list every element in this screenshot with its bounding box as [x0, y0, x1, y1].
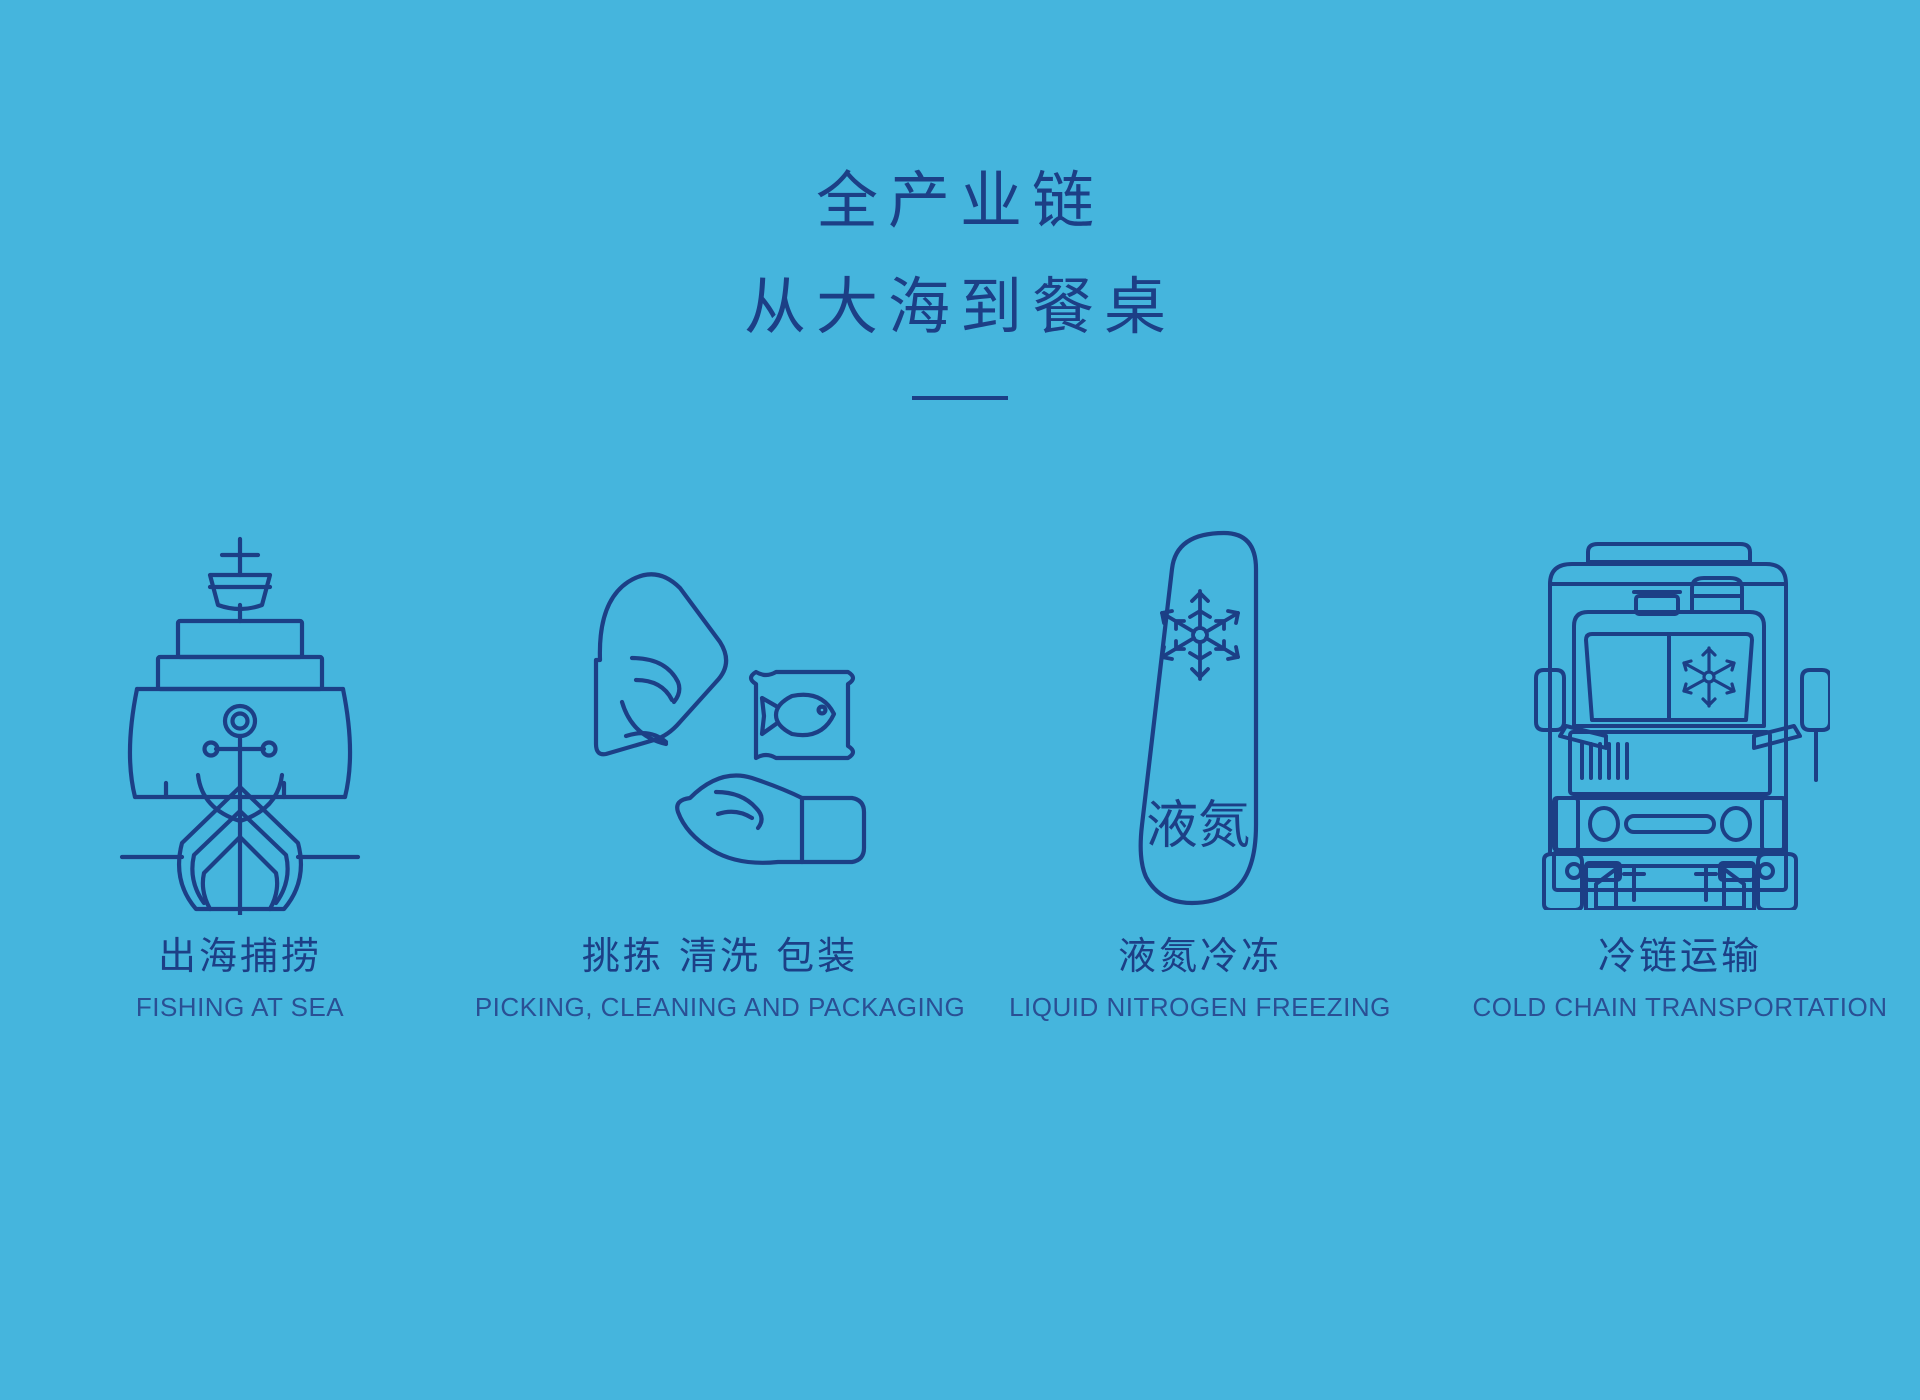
step-liquid-nitrogen-freezing[interactable]: 液氮 液氮冷冻 LIQUID NITROGEN FREEZING — [960, 520, 1440, 1023]
tank-label-text: 液氮 — [1146, 796, 1250, 856]
refrigerated-truck-icon — [1530, 530, 1830, 910]
step-label-cn: 出海捕捞 — [136, 934, 344, 980]
step-labels: 挑拣 清洗 包装 PICKING, CLEANING AND PACKAGING — [475, 934, 965, 1023]
step-label-cn: 冷链运输 — [1472, 934, 1887, 980]
step-label-en: PICKING, CLEANING AND PACKAGING — [475, 992, 965, 1023]
liquid-nitrogen-tank-icon: 液氮 — [1120, 525, 1280, 915]
icon-container — [1530, 520, 1830, 920]
page-header: 全产业链 从大海到餐桌 — [0, 170, 1920, 400]
icon-container: 液氮 — [1120, 520, 1280, 920]
icon-container — [110, 520, 370, 920]
step-label-cn: 液氮冷冻 — [1009, 934, 1391, 980]
hands-sorting-packaging-icon — [570, 550, 870, 890]
page-root: 全产业链 从大海到餐桌 — [0, 0, 1920, 1400]
snowflake-icon — [1684, 648, 1734, 706]
icon-container — [570, 520, 870, 920]
step-label-en: COLD CHAIN TRANSPORTATION — [1472, 992, 1887, 1023]
step-labels: 液氮冷冻 LIQUID NITROGEN FREEZING — [1009, 934, 1391, 1023]
step-label-en: FISHING AT SEA — [136, 992, 344, 1023]
snowflake-icon — [1162, 591, 1238, 679]
page-title-primary: 全产业链 — [0, 170, 1920, 232]
process-steps: 出海捕捞 FISHING AT SEA — [0, 520, 1920, 1023]
step-picking-cleaning-packaging[interactable]: 挑拣 清洗 包装 PICKING, CLEANING AND PACKAGING — [480, 520, 960, 1023]
title-divider — [912, 396, 1008, 400]
step-cold-chain-transportation[interactable]: 冷链运输 COLD CHAIN TRANSPORTATION — [1440, 520, 1920, 1023]
step-labels: 冷链运输 COLD CHAIN TRANSPORTATION — [1472, 934, 1887, 1023]
step-fishing-at-sea[interactable]: 出海捕捞 FISHING AT SEA — [0, 520, 480, 1023]
step-labels: 出海捕捞 FISHING AT SEA — [136, 934, 344, 1023]
step-label-en: LIQUID NITROGEN FREEZING — [1009, 992, 1391, 1023]
step-label-cn: 挑拣 清洗 包装 — [475, 934, 965, 980]
fishing-boat-icon — [110, 525, 370, 915]
page-title-secondary: 从大海到餐桌 — [0, 276, 1920, 338]
